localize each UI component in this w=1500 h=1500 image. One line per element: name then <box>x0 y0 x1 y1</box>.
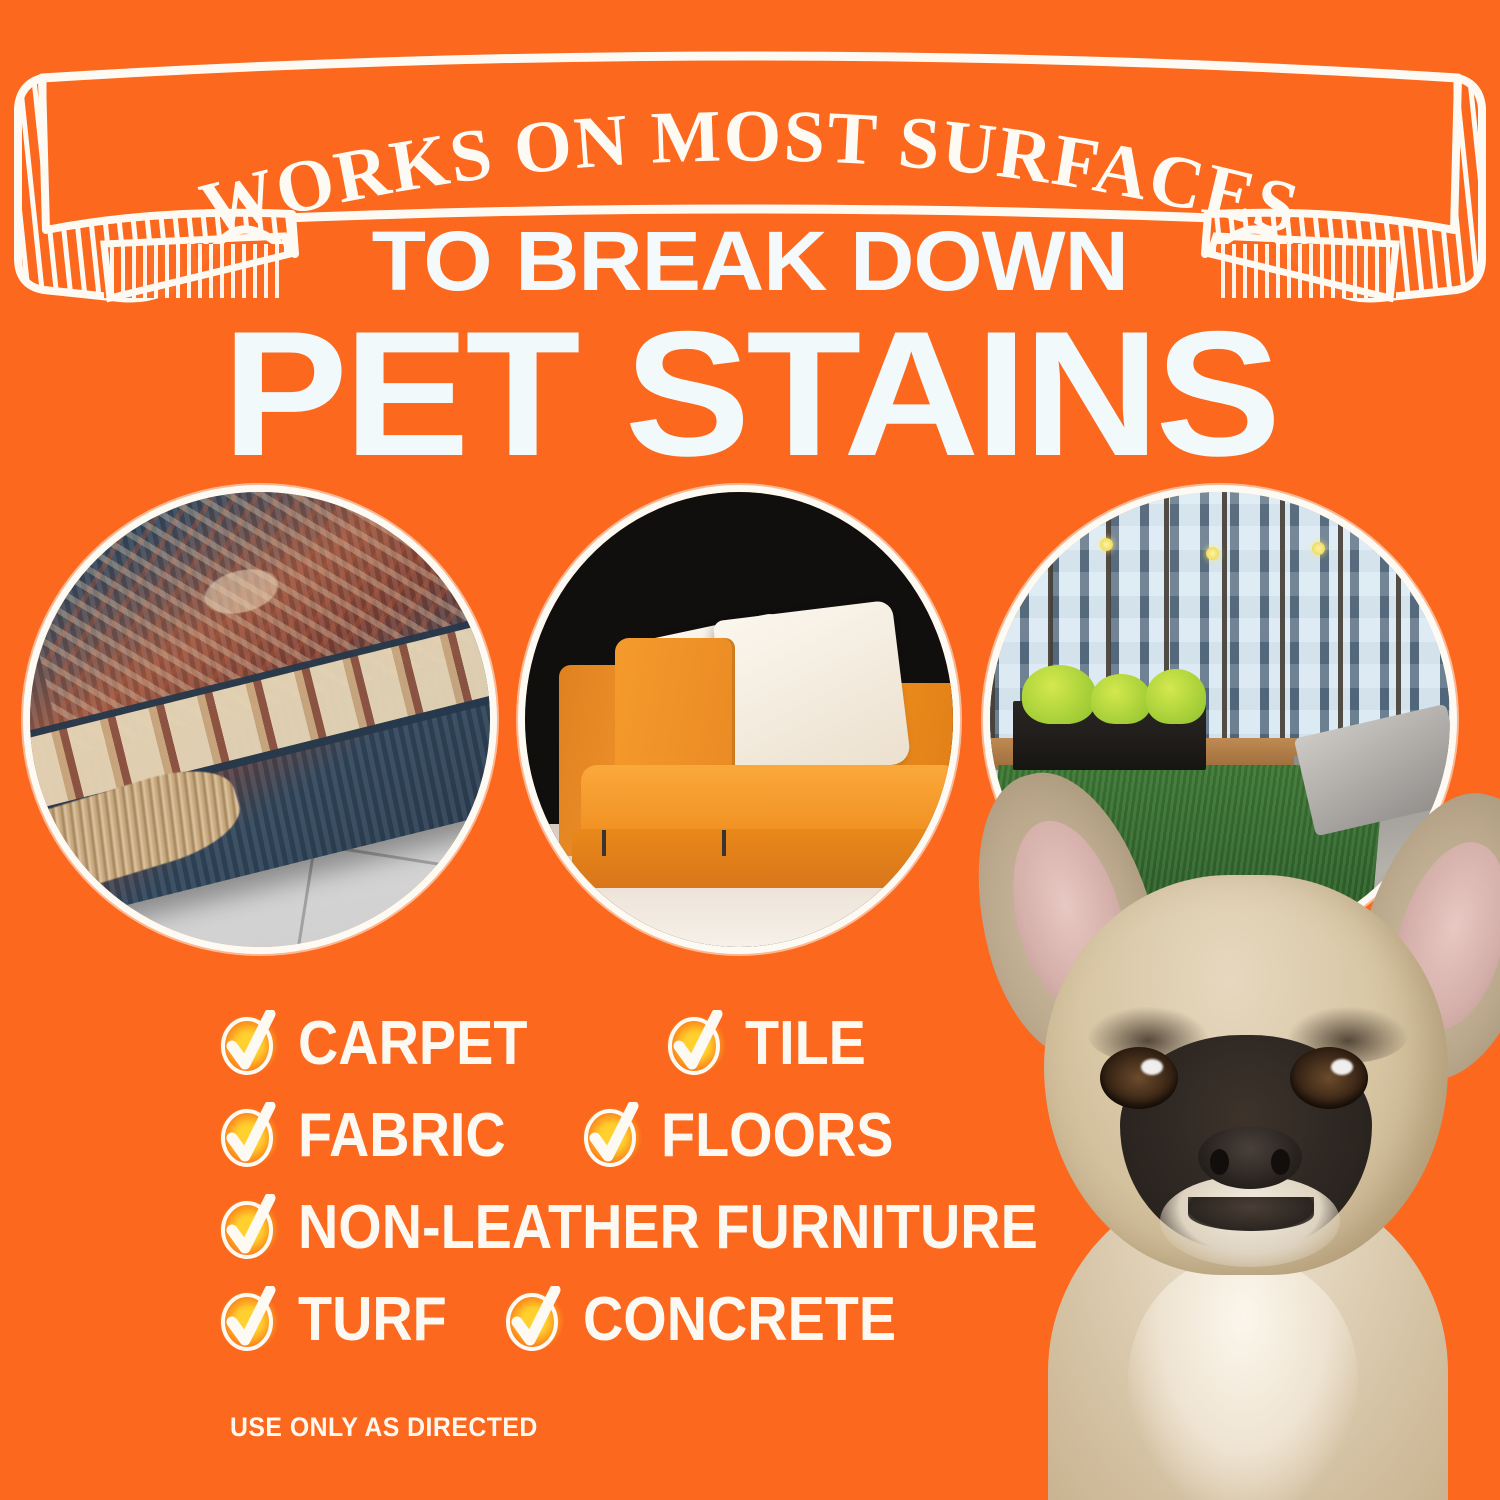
checklist-item-turf: TURF <box>218 1286 463 1354</box>
photo-carpet-rug <box>30 492 490 947</box>
checklist-label: FLOORS <box>661 1105 893 1167</box>
sofa-leg <box>602 830 606 856</box>
photo-orange-sofa <box>525 492 953 947</box>
string-light-bulb <box>1100 538 1113 551</box>
checklist-item-carpet: CARPET <box>218 1010 553 1078</box>
checklist-label: FABRIC <box>298 1105 506 1167</box>
plant <box>1022 665 1096 724</box>
checklist-label: TURF <box>298 1289 447 1351</box>
checklist-item-concrete: CONCRETE <box>503 1286 931 1354</box>
check-icon <box>665 1010 727 1078</box>
sofa-base <box>572 829 953 888</box>
sofa-leg <box>722 830 726 856</box>
checklist-label: CARPET <box>298 1013 527 1075</box>
dog-nose <box>1198 1127 1302 1189</box>
checklist-label: CONCRETE <box>583 1289 896 1351</box>
checklist-label: NON-LEATHER FURNITURE <box>298 1197 1038 1259</box>
dog-eye-left <box>1100 1047 1178 1109</box>
string-light-bulb <box>1312 542 1325 555</box>
headline-line-2: PET STAINS <box>0 305 1500 483</box>
headline-line-1: TO BREAK DOWN <box>0 219 1500 303</box>
checklist-item-floors: FLOORS <box>581 1102 919 1170</box>
check-icon <box>503 1286 565 1354</box>
plant <box>1091 674 1151 724</box>
string-light-bulb <box>1206 547 1219 560</box>
check-icon <box>581 1102 643 1170</box>
cream-pillow-front <box>713 600 911 784</box>
check-icon <box>218 1010 280 1078</box>
french-bulldog-puppy <box>960 735 1500 1500</box>
checklist-label: TILE <box>745 1013 866 1075</box>
check-icon <box>218 1102 280 1170</box>
check-icon <box>218 1286 280 1354</box>
check-icon <box>218 1194 280 1262</box>
dog-lip <box>1188 1197 1314 1231</box>
checklist-item-tile: TILE <box>665 1010 879 1078</box>
dog-eye-right <box>1290 1047 1368 1109</box>
promo-poster: WORKS ON MOST SURFACES TO BREAK DOWN PET… <box>0 0 1500 1500</box>
plant <box>1146 669 1206 724</box>
dog-chest <box>1128 1255 1358 1500</box>
fineprint-disclaimer: USE ONLY AS DIRECTED <box>230 1412 538 1443</box>
checklist-item-fabric: FABRIC <box>218 1102 529 1170</box>
